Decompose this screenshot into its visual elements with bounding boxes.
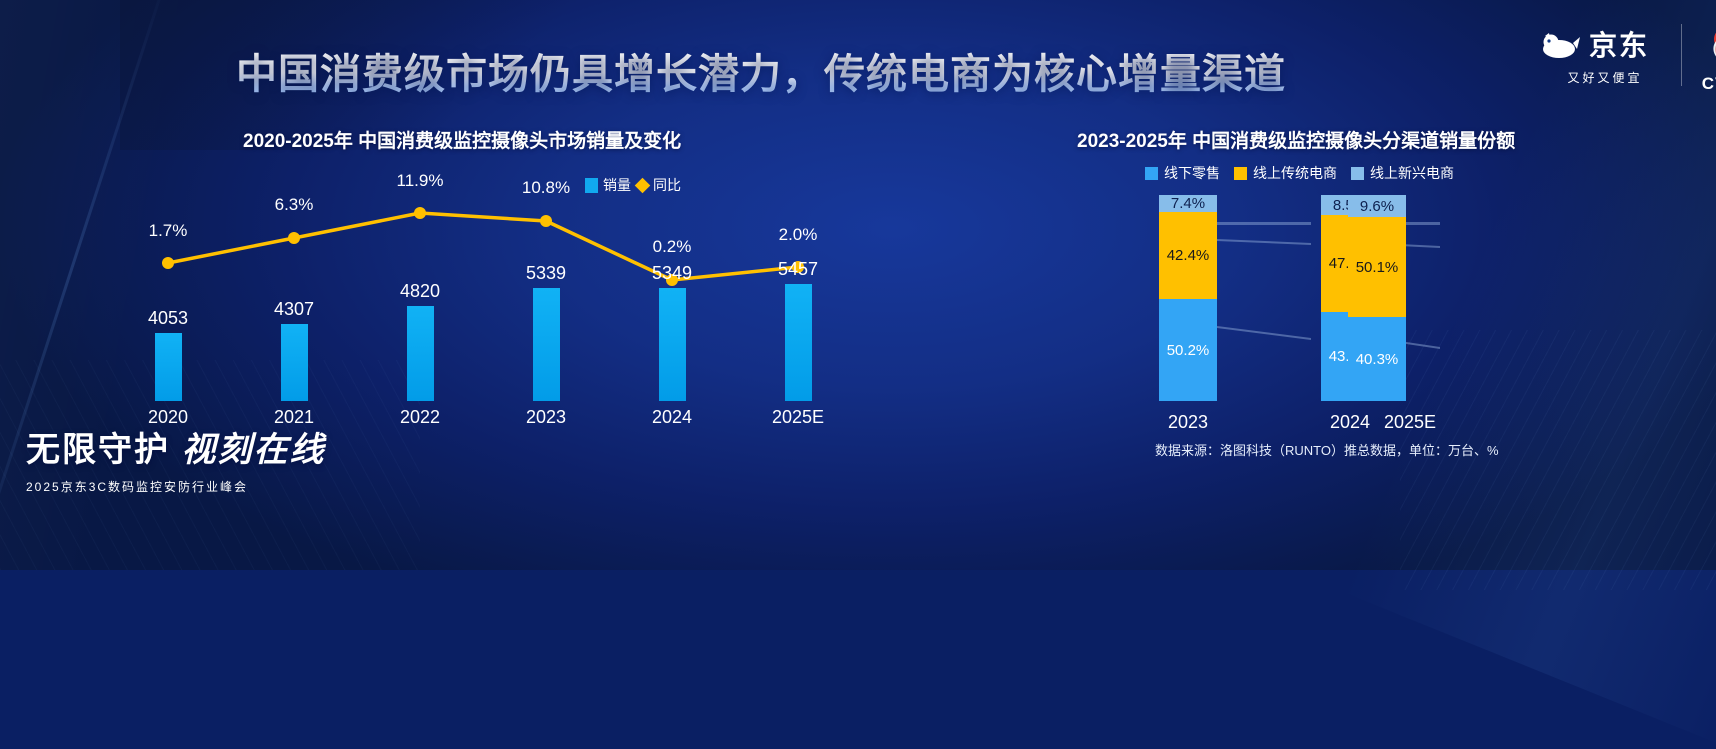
sales-bar-series: 4053 4307 4820 5339 5349 5457 (130, 175, 890, 425)
right-x-label-2023: 2023 (1138, 412, 1238, 433)
event-title-part2: 视刻在线 (181, 431, 325, 469)
left-chart-title: 2020-2025年 中国消费级监控摄像头市场销量及变化 (243, 126, 681, 153)
event-title-part1: 无限守护 (26, 431, 170, 469)
legend-swatch-traditional-icon (1234, 167, 1247, 180)
event-subtitle: 2025京东3C数码监控安防行业峰会 (26, 478, 346, 495)
bar-column-2021: 4307 (244, 299, 344, 401)
x-label-2020: 2020 (118, 407, 218, 428)
legend-label-offline: 线下零售 (1164, 163, 1220, 183)
logo-divider (1681, 24, 1682, 86)
bar-value-2024: 5349 (622, 263, 722, 284)
channel-share-chart-col3: 9.6% 50.1% 40.3% (1340, 195, 1460, 435)
bar-column-2024: 5349 (622, 263, 722, 401)
x-label-2024: 2024 (622, 407, 722, 428)
bar-rect-2023 (533, 288, 560, 401)
bar-rect-2025e (785, 284, 812, 401)
stack-column-2025e: 9.6% 50.1% 40.3% (1348, 195, 1406, 401)
event-title: 无限守护 视刻在线 (26, 430, 346, 470)
jd-wordmark: 京东 (1589, 31, 1649, 61)
bar-value-2021: 4307 (244, 299, 344, 320)
segment-emerging-2025e: 9.6% (1348, 195, 1406, 217)
legend-item-traditional: 线上传统电商 (1234, 163, 1337, 183)
jd-logo: 京东 又好又便宜 (1539, 26, 1671, 88)
bar-rect-2021 (281, 324, 308, 401)
jd-slogan: 又好又便宜 (1539, 69, 1671, 86)
bar-column-2022: 4820 (370, 281, 470, 401)
bar-rect-2020 (155, 333, 182, 401)
segment-offline-2023: 50.2% (1159, 299, 1217, 401)
right-chart-legend: 线下零售 线上传统电商 线上新兴电商 (1145, 163, 1454, 183)
bar-value-2022: 4820 (370, 281, 470, 302)
x-label-2023: 2023 (496, 407, 596, 428)
cvia-wordmark: CVIA (1692, 74, 1716, 94)
segment-offline-2025e: 40.3% (1348, 317, 1406, 401)
cvia-logo: CVIA (1692, 22, 1716, 90)
sales-growth-chart: 销量 同比 1.7% 6.3% 11.9% 10.8% 0.2% 2.0% 40… (130, 175, 890, 425)
right-chart-title: 2023-2025年 中国消费级监控摄像头分渠道销量份额 (1077, 126, 1515, 153)
legend-label-emerging: 线上新兴电商 (1370, 163, 1454, 183)
legend-swatch-emerging-icon (1351, 167, 1364, 180)
page-title: 中国消费级市场仍具增长潜力，传统电商为核心增量渠道 (236, 46, 1336, 102)
segment-traditional-2025e: 50.1% (1348, 217, 1406, 317)
cvia-mark-icon (1692, 53, 1716, 70)
stack-column-2023: 7.4% 42.4% 50.2% (1159, 195, 1217, 401)
jd-dog-icon (1539, 31, 1581, 61)
x-label-2021: 2021 (244, 407, 344, 428)
legend-swatch-offline-icon (1145, 167, 1158, 180)
bar-column-2025e: 5457 (748, 259, 848, 401)
bar-value-2020: 4053 (118, 308, 218, 329)
segment-traditional-2023: 42.4% (1159, 212, 1217, 299)
bar-rect-2024 (659, 288, 686, 401)
bar-value-2023: 5339 (496, 263, 596, 284)
legend-item-offline: 线下零售 (1145, 163, 1220, 183)
data-source-note: 数据来源：洛图科技（RUNTO）推总数据，单位：万台、% (1155, 440, 1499, 459)
event-branding: 无限守护 视刻在线 2025京东3C数码监控安防行业峰会 (26, 430, 346, 510)
legend-label-traditional: 线上传统电商 (1253, 163, 1337, 183)
segment-emerging-2023: 7.4% (1159, 195, 1217, 212)
x-label-2025e: 2025E (748, 407, 848, 428)
slide-canvas: 中国消费级市场仍具增长潜力，传统电商为核心增量渠道 京东 又好又便宜 (0, 0, 1716, 570)
legend-item-emerging: 线上新兴电商 (1351, 163, 1454, 183)
bar-rect-2022 (407, 306, 434, 401)
x-label-2022: 2022 (370, 407, 470, 428)
bar-column-2023: 5339 (496, 263, 596, 401)
bar-column-2020: 4053 (118, 308, 218, 401)
bar-value-2025e: 5457 (748, 259, 848, 280)
